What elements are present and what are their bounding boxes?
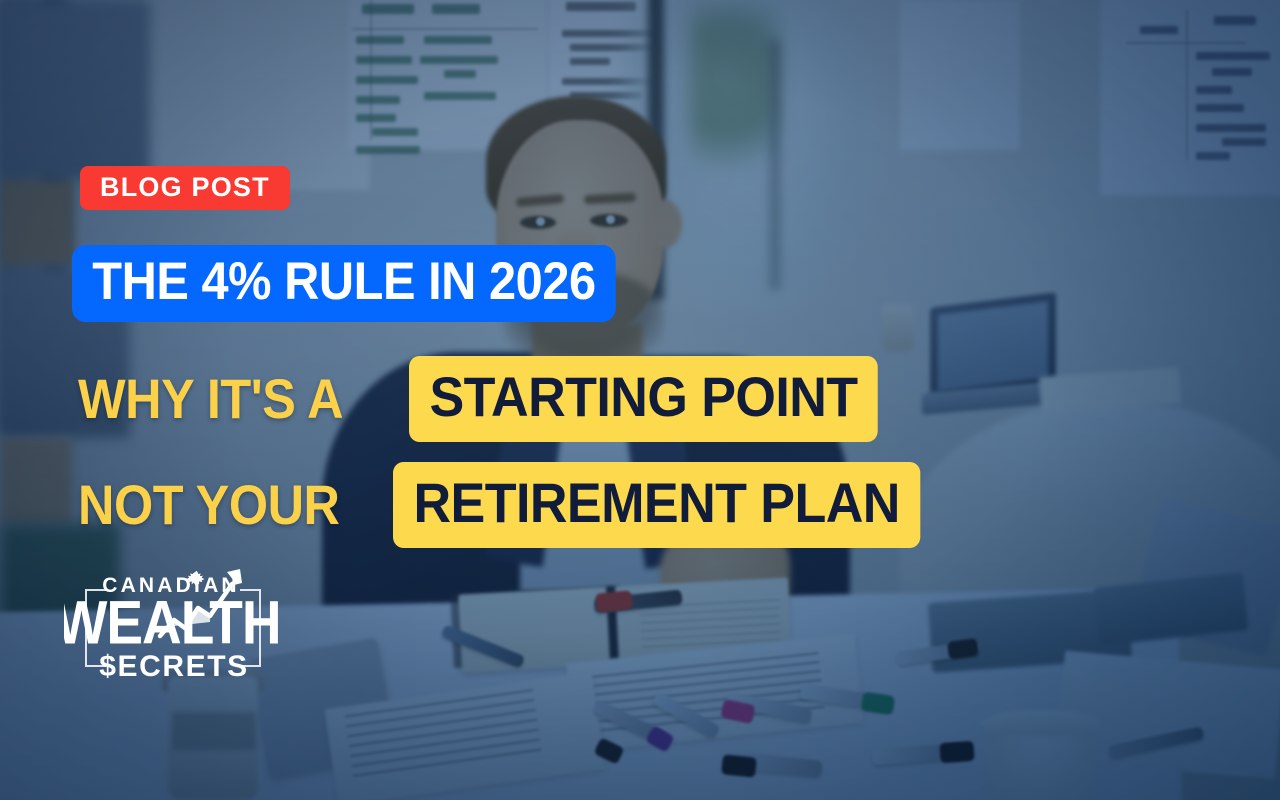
brand-logo: CANADIAN WEALTH $ECRETS [64, 556, 278, 681]
headline-primary: THE 4% RULE IN 2026 [72, 245, 616, 322]
text-overlay: BLOG POST THE 4% RULE IN 2026 WHY IT'S A… [0, 0, 1280, 800]
subhead-line-2: WHY IT'S A STARTING POINT [78, 356, 913, 442]
blog-post-badge: BLOG POST [80, 166, 290, 210]
subhead-line-3-plain: NOT YOUR [78, 477, 339, 533]
subhead-line-3-highlight: RETIREMENT PLAN [393, 462, 920, 548]
logo-word-bottom: $ECRETS [99, 650, 249, 681]
thumbnail-canvas: BLOG POST THE 4% RULE IN 2026 WHY IT'S A… [0, 0, 1280, 800]
subhead-line-3: NOT YOUR RETIREMENT PLAN [78, 462, 960, 548]
subhead-line-2-plain: WHY IT'S A [78, 371, 343, 427]
subhead-line-2-highlight: STARTING POINT [409, 356, 878, 442]
